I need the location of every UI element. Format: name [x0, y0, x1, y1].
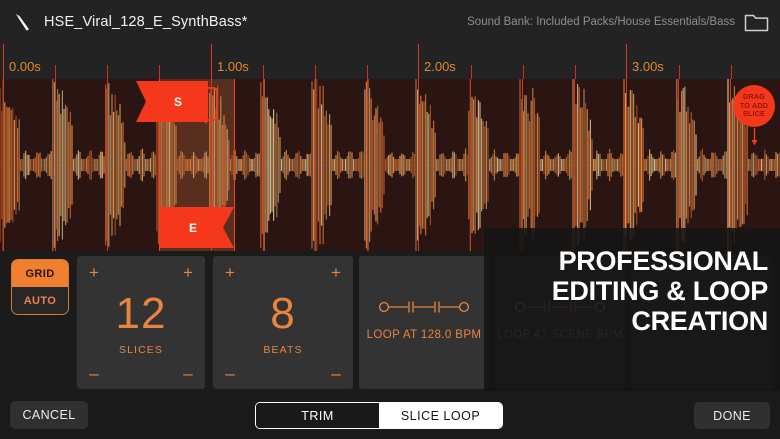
slice-divider[interactable] — [3, 79, 4, 251]
down-arrow-icon — [751, 128, 758, 146]
audio-waveform — [0, 79, 780, 251]
ruler-minor-tick — [55, 65, 56, 79]
done-button[interactable]: DONE — [694, 402, 770, 429]
top-bar: HSE_Viral_128_E_SynthBass* Sound Bank: I… — [0, 0, 780, 44]
start-marker-handle[interactable] — [136, 81, 208, 122]
ruler-minor-tick — [263, 65, 264, 79]
drag-to-add-slice-badge[interactable]: DRAG TO ADD SLICE — [733, 85, 775, 127]
ruler-minor-tick — [679, 65, 680, 79]
slice-divider[interactable] — [107, 79, 108, 251]
loop-at-bpm-caption: LOOP AT 128.0 BPM — [359, 329, 489, 341]
tab-trim[interactable]: TRIM — [256, 403, 379, 428]
mode-grid-button[interactable]: GRID — [12, 260, 68, 287]
trim-sliceloop-segmented-control[interactable]: TRIM SLICE LOOP — [255, 402, 503, 429]
ruler-major-tick — [211, 44, 212, 79]
slice-divider[interactable] — [470, 79, 471, 251]
ruler-major-tick — [626, 44, 627, 79]
sound-bank-label: Sound Bank: Included Packs/House Essenti… — [467, 16, 735, 28]
waveform-display[interactable] — [0, 79, 780, 251]
ruler-major-tick — [418, 44, 419, 79]
promo-overlay: PROFESSIONAL EDITING & LOOP CREATION — [484, 228, 780, 391]
ruler-minor-tick — [471, 65, 472, 79]
ruler-minor-tick — [731, 65, 732, 79]
ruler-minor-tick — [575, 65, 576, 79]
beats-decrease-right-button[interactable]: – — [327, 365, 345, 383]
slices-value: 12 — [77, 290, 205, 338]
slice-divider[interactable] — [263, 79, 264, 251]
start-marker-label: S — [174, 95, 182, 109]
slice-divider[interactable] — [730, 79, 731, 251]
selection-edge[interactable] — [234, 79, 235, 251]
slice-divider[interactable] — [574, 79, 575, 251]
slices-increase-right-button[interactable]: + — [179, 264, 197, 282]
file-title: HSE_Viral_128_E_SynthBass* — [44, 14, 248, 30]
slices-decrease-right-button[interactable]: – — [179, 365, 197, 383]
beats-stepper-panel[interactable]: + + – – 8 BEATS — [213, 256, 353, 389]
cancel-button[interactable]: CANCEL — [10, 401, 88, 429]
grid-auto-toggle[interactable]: GRID AUTO — [11, 259, 69, 315]
loop-at-bpm-panel[interactable]: LOOP AT 128.0 BPM — [359, 256, 489, 389]
slices-stepper-panel[interactable]: + + – – 12 SLICES — [77, 256, 205, 389]
ruler-minor-tick — [315, 65, 316, 79]
slice-divider[interactable] — [367, 79, 368, 251]
pencil-icon[interactable] — [12, 11, 34, 33]
beats-caption: BEATS — [213, 344, 353, 356]
loop-range-icon — [359, 300, 489, 314]
ruler-minor-tick — [523, 65, 524, 79]
promo-text: PROFESSIONAL EDITING & LOOP CREATION — [492, 246, 768, 336]
beats-increase-right-button[interactable]: + — [327, 264, 345, 282]
slice-divider[interactable] — [522, 79, 523, 251]
tab-slice-loop[interactable]: SLICE LOOP — [379, 403, 502, 428]
ruler-minor-tick — [107, 65, 108, 79]
slices-increase-left-button[interactable]: + — [85, 264, 103, 282]
slice-divider[interactable] — [315, 79, 316, 251]
ruler-tick-label: 1.00s — [217, 59, 249, 74]
beats-value: 8 — [213, 290, 353, 338]
folder-icon[interactable] — [744, 12, 769, 32]
slices-caption: SLICES — [77, 344, 205, 356]
slices-decrease-left-button[interactable]: – — [85, 365, 103, 383]
ruler-tick-label: 0.00s — [9, 59, 41, 74]
time-ruler[interactable]: 0.00s1.00s2.00s3.00s DRAG TO ADD SLICE — [0, 44, 780, 79]
slice-divider[interactable] — [418, 79, 419, 251]
ruler-minor-tick — [367, 65, 368, 79]
ruler-tick-label: 2.00s — [424, 59, 456, 74]
slice-divider[interactable] — [678, 79, 679, 251]
slice-divider[interactable] — [626, 79, 627, 251]
drag-badge-line3: SLICE — [743, 110, 765, 119]
sound-bank-area[interactable]: Sound Bank: Included Packs/House Essenti… — [467, 12, 769, 32]
sampler-editor-screen: HSE_Viral_128_E_SynthBass* Sound Bank: I… — [0, 0, 780, 439]
beats-increase-left-button[interactable]: + — [221, 264, 239, 282]
ruler-major-tick — [3, 44, 4, 79]
end-marker-label: E — [189, 221, 197, 235]
mode-auto-button[interactable]: AUTO — [12, 287, 68, 315]
ruler-tick-label: 3.00s — [632, 59, 664, 74]
beats-decrease-left-button[interactable]: – — [221, 365, 239, 383]
slice-divider[interactable] — [55, 79, 56, 251]
ruler-minor-tick — [159, 65, 160, 79]
